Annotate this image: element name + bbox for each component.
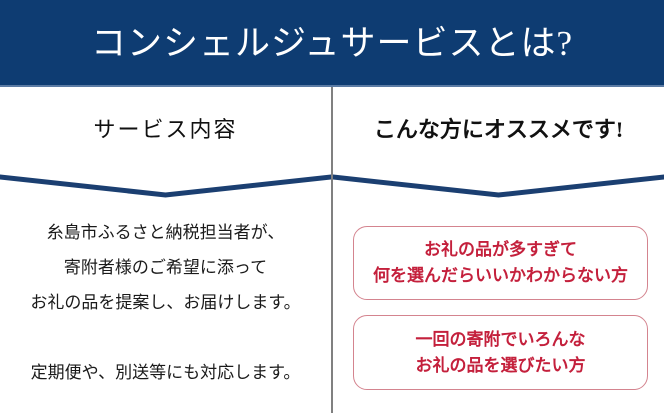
left-chevron-down-icon: [0, 169, 331, 199]
page-header-banner: コンシェルジュサービスとは?: [0, 0, 664, 85]
left-body-spacer: [0, 320, 331, 355]
left-body-line-3: お礼の品を提案し、お届けします。: [0, 285, 331, 320]
page-title: コンシェルジュサービスとは?: [91, 26, 573, 61]
right-column: こんな方にオススメです! お礼の品が多すぎて 何を選んだらいいかわからない方 一…: [333, 87, 664, 413]
left-body-line-2: 寄附者様のご希望に添って: [0, 250, 331, 285]
recommendation-box-1-line-1: お礼の品が多すぎて: [424, 237, 577, 263]
recommendation-box-2-line-1: 一回の寄附でいろんな: [416, 327, 586, 353]
content-area: サービス内容 糸島市ふるさと納税担当者が、 寄附者様のご希望に添って お礼の品を…: [0, 87, 664, 413]
right-column-heading: こんな方にオススメです!: [333, 119, 664, 141]
page-root: コンシェルジュサービスとは? サービス内容 糸島市ふるさと納税担当者が、 寄附者…: [0, 0, 664, 413]
left-column-body: 糸島市ふるさと納税担当者が、 寄附者様のご希望に添って お礼の品を提案し、お届け…: [0, 215, 331, 390]
recommendation-box-2-line-2: お礼の品を選びたい方: [416, 353, 586, 379]
recommendation-box-1-line-2: 何を選んだらいいかわからない方: [373, 263, 628, 289]
left-body-line-1: 糸島市ふるさと納税担当者が、: [0, 215, 331, 250]
right-chevron-down-icon: [333, 169, 664, 199]
left-column: サービス内容 糸島市ふるさと納税担当者が、 寄附者様のご希望に添って お礼の品を…: [0, 87, 331, 413]
left-column-heading: サービス内容: [0, 119, 331, 141]
left-body-line-4: 定期便や、別送等にも対応します。: [0, 355, 331, 390]
recommendation-box-2: 一回の寄附でいろんな お礼の品を選びたい方: [353, 315, 648, 390]
recommendation-box-1: お礼の品が多すぎて 何を選んだらいいかわからない方: [353, 226, 648, 300]
